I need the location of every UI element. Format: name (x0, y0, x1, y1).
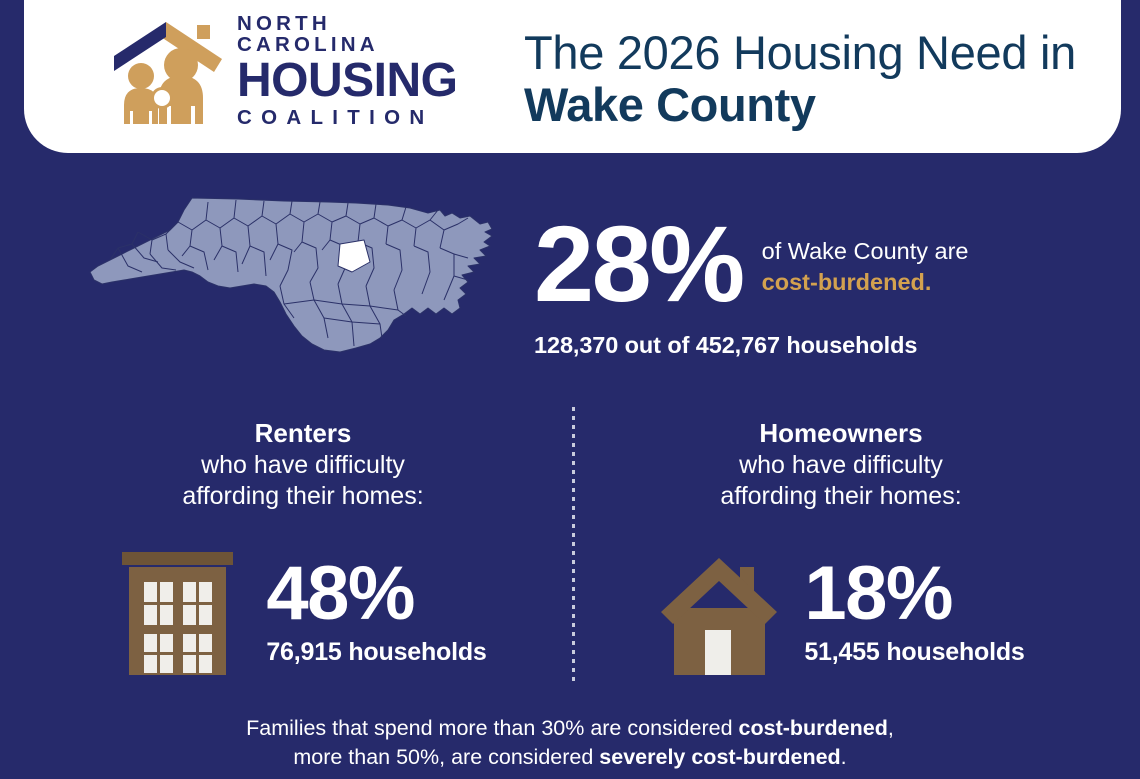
headline-description: of Wake County are cost-burdened. (762, 236, 969, 297)
page-title: The 2026 Housing Need in Wake County (524, 28, 1076, 130)
apartment-building-icon (119, 550, 244, 675)
footer-line-2: more than 50%, are considered severely c… (0, 743, 1140, 772)
column-renters: Renters who have difficulty affording th… (53, 418, 553, 675)
comparison-columns: Renters who have difficulty affording th… (0, 418, 1140, 686)
renters-body: 48% 76,915 households (53, 550, 553, 675)
infographic-root: NORTH CAROLINA HOUSING COALITION The 202… (0, 0, 1140, 779)
single-family-house-icon (657, 550, 782, 675)
logo-line-1: NORTH CAROLINA (237, 14, 469, 55)
footer-line-2-text-a: more than 50%, are considered (293, 745, 599, 769)
logo-line-3: COALITION (237, 108, 469, 129)
house-with-family-icon (109, 20, 227, 124)
renters-heading-strong: Renters (53, 418, 553, 450)
renters-percent: 48% (266, 559, 486, 629)
headline-percent: 28% (534, 214, 743, 314)
footer-line-2-text-b: . (841, 745, 847, 769)
renters-heading-line-2: who have difficulty (53, 450, 553, 481)
column-homeowners: Homeowners who have difficulty affording… (591, 418, 1091, 675)
north-carolina-county-map (88, 196, 508, 356)
homeowners-body: 18% 51,455 households (591, 550, 1091, 675)
homeowners-heading-strong: Homeowners (591, 418, 1091, 450)
headline-description-line-2: cost-burdened. (762, 267, 969, 298)
renters-numbers: 48% 76,915 households (266, 559, 486, 668)
footer-line-1: Families that spend more than 30% are co… (0, 714, 1140, 743)
organization-logo: NORTH CAROLINA HOUSING COALITION (109, 14, 469, 129)
headline-description-line-1: of Wake County are (762, 236, 969, 267)
renters-households: 76,915 households (266, 638, 486, 667)
headline-household-count: 128,370 out of 452,767 households (534, 332, 968, 359)
homeowners-numbers: 18% 51,455 households (804, 559, 1024, 668)
renters-heading-line-3: affording their homes: (53, 481, 553, 512)
footer-line-1-text-b: , (888, 716, 894, 740)
logo-wordmark: NORTH CAROLINA HOUSING COALITION (237, 14, 469, 129)
footer-line-1-bold: cost-burdened (739, 716, 888, 740)
header-card: NORTH CAROLINA HOUSING COALITION The 202… (24, 0, 1121, 153)
title-line-1: The 2026 Housing Need in (524, 28, 1076, 78)
homeowners-percent: 18% (804, 559, 1024, 629)
homeowners-heading-line-3: affording their homes: (591, 481, 1091, 512)
homeowners-heading: Homeowners who have difficulty affording… (591, 418, 1091, 511)
homeowners-households: 51,455 households (804, 638, 1024, 667)
headline-statistic: 28% of Wake County are cost-burdened. 12… (534, 214, 968, 359)
renters-heading: Renters who have difficulty affording th… (53, 418, 553, 511)
homeowners-heading-line-2: who have difficulty (591, 450, 1091, 481)
footer-line-1-text-a: Families that spend more than 30% are co… (246, 716, 738, 740)
title-line-2: Wake County (524, 80, 1076, 130)
footer-definition: Families that spend more than 30% are co… (0, 714, 1140, 773)
logo-line-2: HOUSING (237, 57, 469, 105)
footer-line-2-bold: severely cost-burdened (599, 745, 840, 769)
